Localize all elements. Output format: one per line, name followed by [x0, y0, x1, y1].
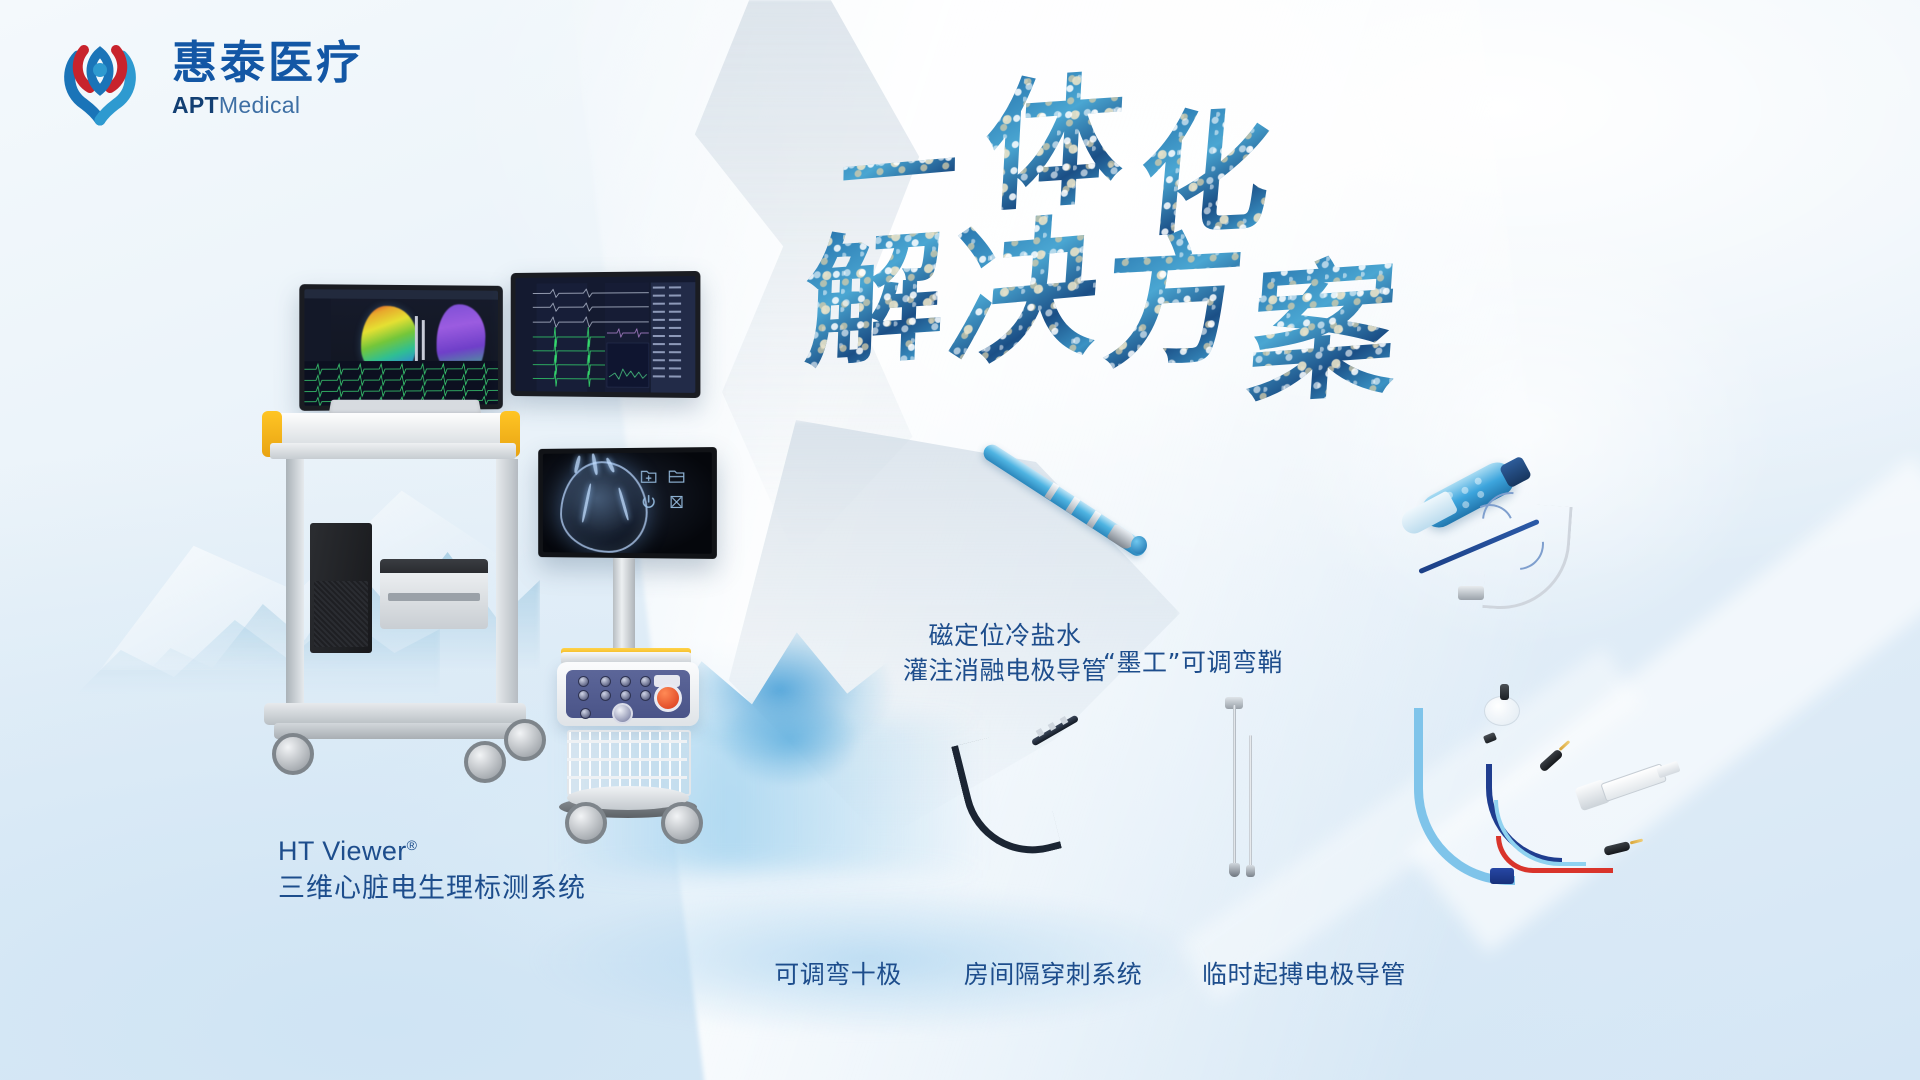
dilator-tip — [1246, 865, 1255, 877]
open-folder-icon[interactable] — [668, 467, 686, 485]
segmentation-icon[interactable] — [668, 493, 686, 511]
cart-deck-lower — [270, 443, 516, 459]
label-line-1: 可调弯十极 — [748, 957, 928, 992]
grip-knob — [1476, 490, 1485, 499]
steerable-sheath-label: “墨工”可调弯鞘 — [1063, 645, 1323, 680]
console-front-panel — [566, 670, 690, 718]
lead-junction-block — [1490, 868, 1514, 884]
rf-generator-console — [557, 662, 699, 726]
needle-tip — [1229, 863, 1240, 877]
cart-top-deck — [268, 413, 518, 447]
label-line-1: 临时起搏电极导管 — [1179, 957, 1429, 992]
poster-canvas: 惠泰医疗 APTMedical 一 体 化 解 决 方 案 — [0, 0, 1920, 1080]
emergency-stop-button[interactable] — [654, 684, 682, 712]
connector-pin — [1559, 740, 1571, 751]
balloon-tip — [1484, 696, 1520, 726]
connector-port[interactable] — [640, 676, 651, 687]
power-icon[interactable] — [640, 493, 658, 511]
connector-port[interactable] — [600, 690, 611, 701]
logo-chinese-name: 惠泰医疗 — [172, 40, 364, 85]
catheter-marker-1 — [415, 316, 418, 362]
printer — [380, 571, 488, 629]
caster-wheel — [272, 733, 314, 775]
tower-vent-grill — [314, 581, 368, 647]
steerable-sheath-icon — [1400, 448, 1690, 623]
ground-port[interactable] — [580, 708, 591, 719]
catheter-distal-tip — [1131, 536, 1147, 554]
basket-rail — [567, 740, 687, 743]
heart-monitor — [538, 447, 717, 559]
transseptal-puncture-icon — [1215, 705, 1275, 895]
connector-port[interactable] — [578, 676, 589, 687]
logo-apt-text: APT — [172, 92, 219, 118]
catheter-marker-2 — [422, 320, 425, 360]
decapolar-catheter-icon — [955, 735, 1075, 875]
mapping-toolbar — [304, 289, 498, 299]
connector-port[interactable] — [620, 676, 631, 687]
logo-english-name: APTMedical — [172, 94, 364, 117]
console-cart-body — [559, 724, 697, 820]
basket-rail — [567, 758, 687, 761]
connector-port[interactable] — [620, 690, 631, 701]
brand-logo[interactable]: 惠泰医疗 APTMedical — [44, 22, 364, 134]
computer-tower — [310, 523, 372, 653]
transseptal-label: 房间隔穿刺系统 — [943, 957, 1163, 992]
ecg-software-ui — [516, 276, 696, 393]
cart-chassis — [268, 403, 528, 703]
monitor-pole — [613, 558, 635, 660]
cart-base-plate — [264, 703, 526, 725]
grip-knob — [1460, 486, 1469, 495]
connector-pin — [1630, 838, 1643, 844]
heart-monitor-screen — [543, 452, 712, 554]
heart-anatomy-illustration — [560, 461, 648, 553]
cart-column-right — [496, 459, 518, 709]
printer-lid — [380, 559, 488, 573]
main-output-port[interactable] — [612, 703, 633, 724]
registered-mark: ® — [407, 837, 418, 853]
puncture-needle-shaft — [1233, 705, 1236, 865]
ecg-monitor-screen — [516, 276, 696, 393]
decapolar-label: 可调弯十极 — [748, 957, 928, 992]
mapping-software-ui — [304, 289, 498, 406]
caster-wheel — [661, 802, 703, 844]
logo-medical-text: Medical — [219, 92, 300, 118]
heart-rings-logo-icon — [44, 22, 156, 134]
cart-base-frame — [274, 723, 516, 739]
heart-monitor-icon-panel[interactable] — [640, 466, 704, 511]
ecg-monitor — [511, 271, 701, 398]
distal-electrode — [1500, 684, 1509, 700]
label-line-1: 房间隔穿刺系统 — [943, 957, 1163, 992]
caster-wheel — [565, 802, 607, 844]
hemostasis-valve — [1458, 586, 1484, 600]
workstation-product-desc: 三维心脏电生理标测系统 — [278, 870, 586, 908]
red-lead-wire — [1496, 836, 1613, 873]
irrigated-ablation-catheter-icon — [985, 440, 1185, 560]
pacing-catheter-label: 临时起搏电极导管 — [1179, 957, 1429, 992]
guidewire — [1249, 735, 1252, 867]
mapping-monitor-screen — [304, 289, 498, 406]
grip-knob — [1461, 500, 1470, 509]
connector-port[interactable] — [600, 676, 611, 687]
connector-port[interactable] — [578, 690, 589, 701]
catheter-curve — [951, 727, 1062, 868]
cart-column-left — [286, 459, 304, 709]
grip-knob — [1473, 476, 1482, 485]
label-line-1: “墨工”可调弯鞘 — [1063, 645, 1323, 680]
caster-wheel — [464, 741, 506, 783]
inflation-syringe — [1575, 759, 1675, 812]
heart-display-cart — [535, 448, 865, 868]
pacing-catheter-icon — [1390, 700, 1690, 900]
connector-port[interactable] — [640, 690, 651, 701]
new-folder-icon[interactable] — [640, 467, 658, 485]
printer-paper-slot — [388, 593, 480, 601]
basket-rail — [567, 776, 687, 779]
mapping-monitor — [299, 284, 503, 411]
